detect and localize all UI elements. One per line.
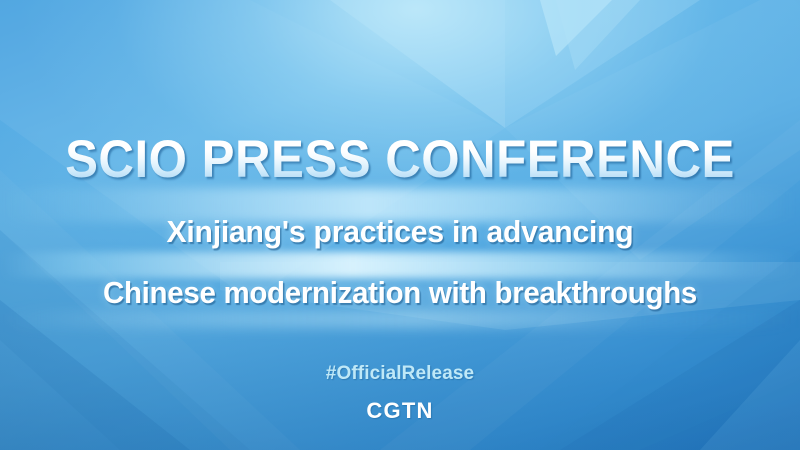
title-card-graphic: SCIO PRESS CONFERENCE Xinjiang's practic…: [0, 0, 800, 450]
brand-logo-text: CGTN: [0, 398, 800, 424]
subtitle-line-2: Chinese modernization with breakthroughs: [20, 275, 780, 311]
text-content: SCIO PRESS CONFERENCE Xinjiang's practic…: [0, 0, 800, 450]
main-title: SCIO PRESS CONFERENCE: [28, 133, 772, 186]
hashtag-label: #OfficialRelease: [0, 363, 800, 385]
subtitle-line-1: Xinjiang's practices in advancing: [12, 214, 788, 250]
